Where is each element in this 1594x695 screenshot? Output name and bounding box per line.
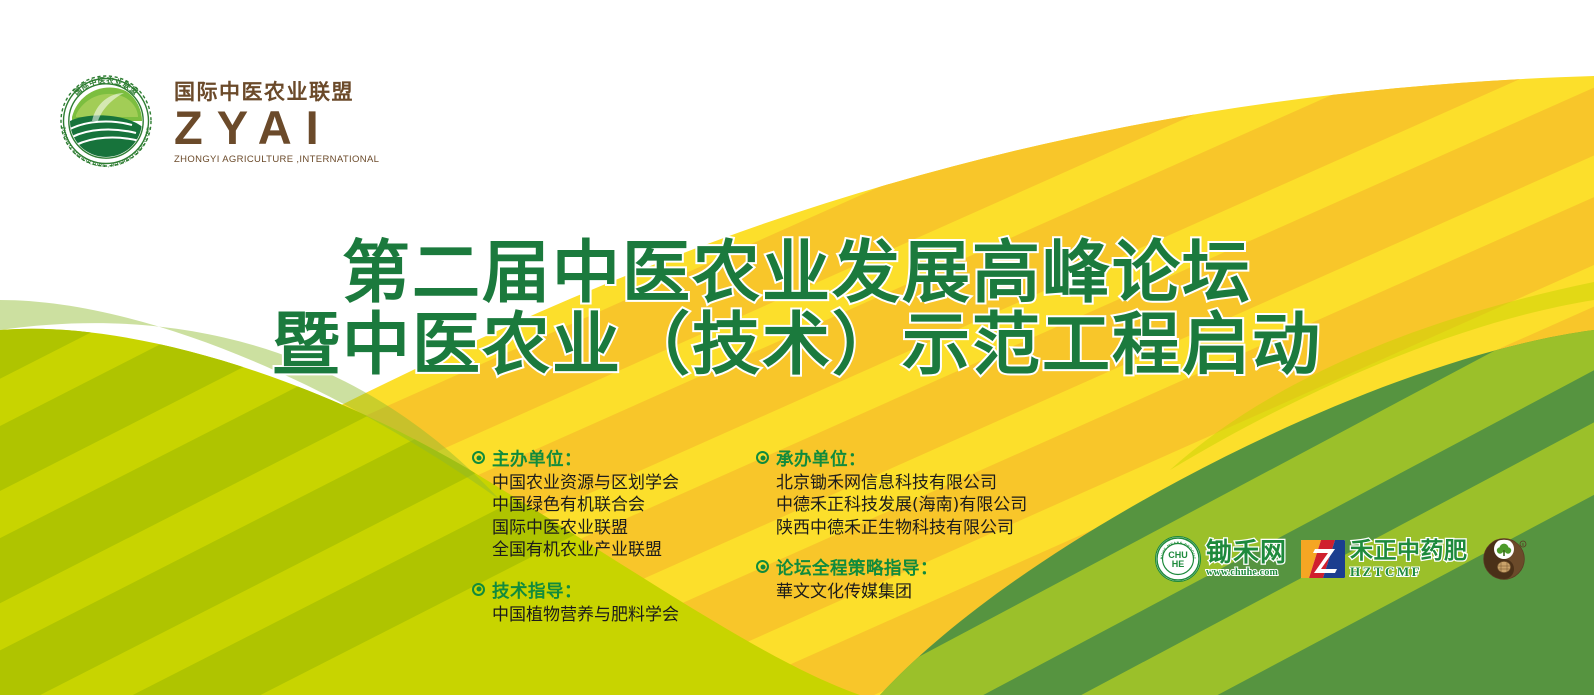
poster-canvas: 国际中医农业联盟 ZHONGYI AGRICULTURE , INTERNATI… <box>0 0 1594 695</box>
bullet-icon <box>756 560 769 573</box>
hztcmf-mark-icon <box>1301 540 1345 578</box>
credit-item-list: 華文文化传媒集团 <box>776 581 1056 603</box>
credit-heading-row: 技术指导： <box>472 578 740 603</box>
credit-item: 北京锄禾网信息科技有限公司 <box>776 472 1056 494</box>
herb-seal-icon: R <box>1482 536 1528 582</box>
hztcmf-acronym: HZTCMF <box>1350 565 1468 578</box>
credit-group-technical-guidance: 技术指导： 中国植物营养与肥料学会 <box>472 578 740 626</box>
credit-item: 陕西中德禾正生物科技有限公司 <box>776 517 1056 539</box>
zyai-wordmark: 国际中医农业联盟 ZYAI ZHONGYI AGRICULTURE ,INTER… <box>174 78 379 164</box>
credit-item: 中国农业资源与区划学会 <box>492 472 740 494</box>
bullet-icon <box>472 451 485 464</box>
credits-column-1: 主办单位： 中国农业资源与区划学会 中国绿色有机联合会 国际中医农业联盟 全国有… <box>472 446 740 642</box>
chuhe-name-cn: 锄禾网 <box>1206 540 1287 566</box>
chuhe-seal-icon: CHUHE MEANS PRODUCE CHU HE <box>1155 536 1201 582</box>
credits-block: 主办单位： 中国农业资源与区划学会 中国绿色有机联合会 国际中医农业联盟 全国有… <box>472 446 1092 642</box>
credit-item-list: 北京锄禾网信息科技有限公司 中德禾正科技发展(海南)有限公司 陕西中德禾正生物科… <box>776 472 1056 539</box>
title-line-2: 暨中医农业（技术）示范工程启动 <box>0 310 1594 382</box>
credit-item: 華文文化传媒集团 <box>776 581 1056 603</box>
credit-heading-row: 论坛全程策略指导： <box>756 555 1056 580</box>
credit-group-organizers: 主办单位： 中国农业资源与区划学会 中国绿色有机联合会 国际中医农业联盟 全国有… <box>472 446 740 562</box>
credit-item: 国际中医农业联盟 <box>492 517 740 539</box>
credit-group-strategy-guidance: 论坛全程策略指导： 華文文化传媒集团 <box>756 555 1056 603</box>
svg-text:HE: HE <box>1172 559 1185 569</box>
credit-heading: 技术指导： <box>492 578 582 603</box>
credit-group-hosts: 承办单位： 北京锄禾网信息科技有限公司 中德禾正科技发展(海南)有限公司 陕西中… <box>756 446 1056 539</box>
credit-item-list: 中国农业资源与区划学会 中国绿色有机联合会 国际中医农业联盟 全国有机农业产业联… <box>492 472 740 562</box>
credit-heading: 承办单位： <box>776 446 866 471</box>
title-line-1: 第二届中医农业发展高峰论坛 <box>0 238 1594 310</box>
hztcmf-wordmark: 禾正中药肥 HZTCMF <box>1350 540 1468 578</box>
chuhe-url: www.chuhe.com <box>1206 568 1287 578</box>
sponsor-logo-chuhe: CHUHE MEANS PRODUCE CHU HE 锄禾网 www.chuhe… <box>1155 536 1287 582</box>
zyai-logo-lockup: 国际中医农业联盟 ZHONGYI AGRICULTURE , INTERNATI… <box>52 66 352 176</box>
credit-heading: 主办单位： <box>492 446 582 471</box>
credit-item: 中国植物营养与肥料学会 <box>492 604 740 626</box>
credits-column-2: 承办单位： 北京锄禾网信息科技有限公司 中德禾正科技发展(海南)有限公司 陕西中… <box>756 446 1056 642</box>
sponsor-logo-seal: R <box>1482 536 1528 582</box>
zyai-name-en: ZHONGYI AGRICULTURE ,INTERNATIONAL <box>174 155 379 165</box>
zyai-emblem-icon: 国际中医农业联盟 ZHONGYI AGRICULTURE , INTERNATI… <box>52 67 160 175</box>
credit-item: 全国有机农业产业联盟 <box>492 539 740 561</box>
hztcmf-name-cn: 禾正中药肥 <box>1350 540 1468 563</box>
zyai-acronym: ZYAI <box>174 106 333 151</box>
bullet-icon <box>472 583 485 596</box>
credit-item: 中国绿色有机联合会 <box>492 494 740 516</box>
credit-heading-row: 承办单位： <box>756 446 1056 471</box>
credit-item-list: 中国植物营养与肥料学会 <box>492 604 740 626</box>
credit-heading-row: 主办单位： <box>472 446 740 471</box>
credit-heading: 论坛全程策略指导： <box>776 555 938 580</box>
zyai-name-cn: 国际中医农业联盟 <box>174 82 354 103</box>
poster-title: 第二届中医农业发展高峰论坛 暨中医农业（技术）示范工程启动 <box>0 238 1594 382</box>
sponsor-logo-hztcmf: 禾正中药肥 HZTCMF <box>1301 540 1468 578</box>
bullet-icon <box>756 451 769 464</box>
sponsor-logo-row: CHUHE MEANS PRODUCE CHU HE 锄禾网 www.chuhe… <box>1155 528 1528 590</box>
credit-item: 中德禾正科技发展(海南)有限公司 <box>776 494 1056 516</box>
chuhe-wordmark: 锄禾网 www.chuhe.com <box>1206 540 1287 578</box>
